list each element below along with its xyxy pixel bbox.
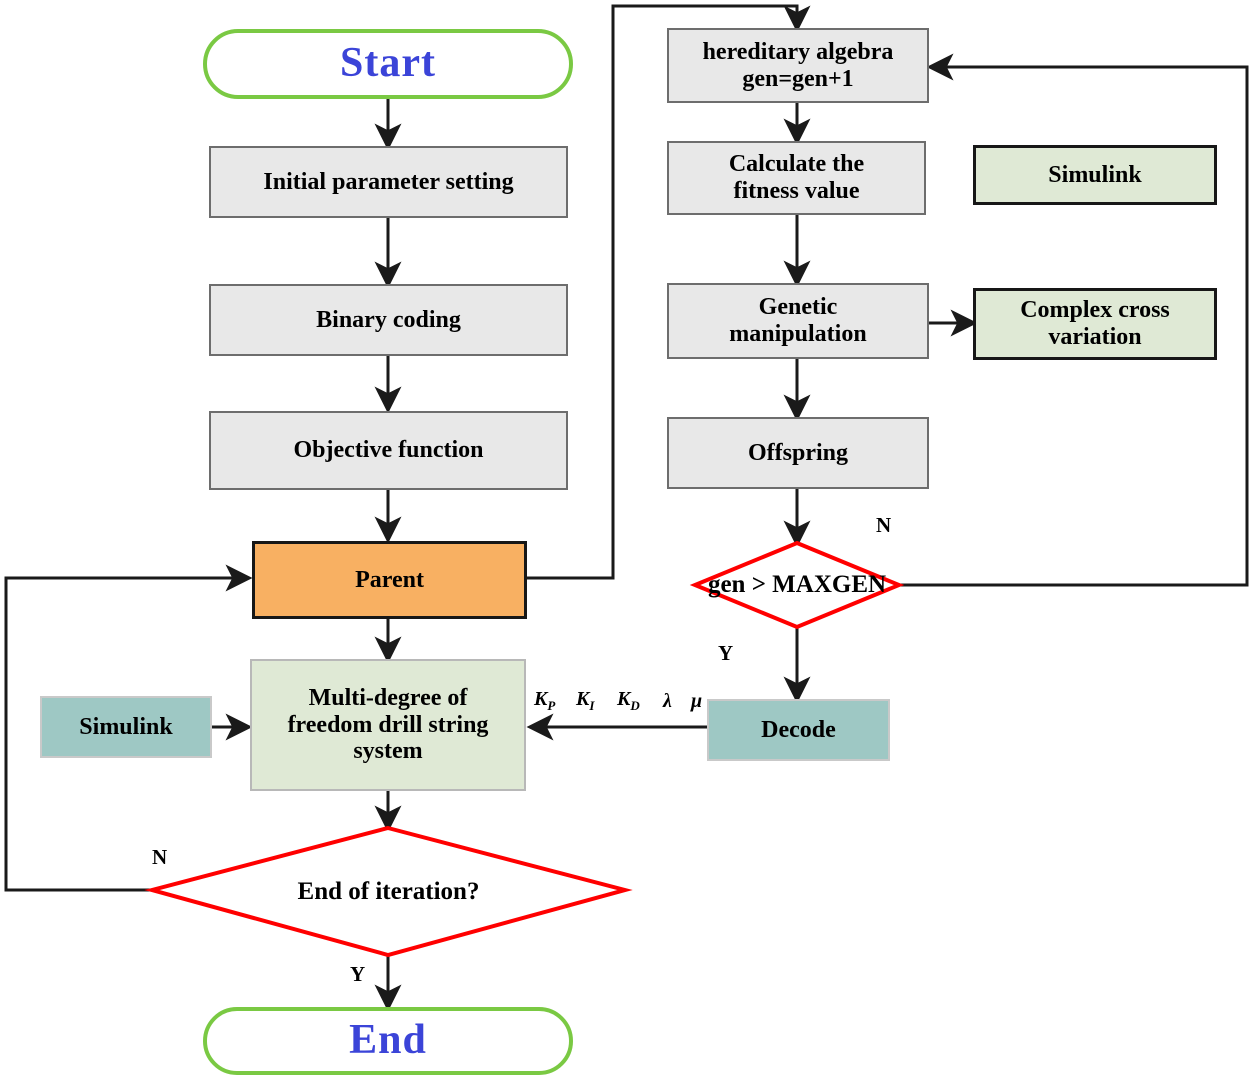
process-decode[interactable]: Decode (707, 699, 890, 761)
param-label-lambda: λ (663, 690, 672, 713)
process-objective-function[interactable]: Objective function (209, 411, 568, 490)
process-offspring-label: Offspring (748, 440, 848, 467)
param-kp-subscript: P (547, 698, 555, 713)
process-initial-parameter-setting-label: Initial parameter setting (263, 169, 513, 196)
param-kd-subscript: D (630, 698, 639, 713)
decision-end-of-iteration-label: End of iteration? (152, 828, 625, 955)
process-hereditary-algebra-line2: gen=gen+1 (742, 66, 853, 93)
process-parent-label: Parent (355, 567, 424, 594)
process-hereditary-algebra-line1: hereditary algebra (703, 39, 894, 66)
process-genetic-manipulation-line1: Genetic (759, 294, 838, 321)
terminal-end[interactable]: End (203, 1007, 573, 1075)
process-calculate-fitness-value-line1: Calculate the (729, 151, 864, 178)
process-simulink-right-label: Simulink (1048, 162, 1141, 189)
edge-label-maxgen-yes: Y (718, 641, 733, 666)
process-genetic-manipulation[interactable]: Genetic manipulation (667, 283, 929, 359)
terminal-end-label: End (349, 1017, 427, 1064)
process-decode-label: Decode (761, 717, 836, 744)
process-genetic-manipulation-line2: manipulation (729, 321, 866, 348)
process-drill-string-system-line2: freedom drill string (288, 712, 489, 739)
process-offspring[interactable]: Offspring (667, 417, 929, 489)
edge-label-iteration-yes: Y (350, 962, 365, 987)
process-drill-string-system[interactable]: Multi-degree of freedom drill string sys… (250, 659, 526, 791)
process-simulink-left-label: Simulink (79, 714, 172, 741)
param-label-ki: KI (576, 688, 594, 714)
param-label-kd: KD (617, 688, 640, 714)
process-calculate-fitness-value-line2: fitness value (734, 178, 860, 205)
param-ki-symbol: K (576, 688, 589, 710)
decision-gen-maxgen[interactable]: gen > MAXGEN (695, 543, 899, 627)
terminal-start[interactable]: Start (203, 29, 573, 99)
process-complex-cross-variation-line1: Complex cross (1020, 297, 1170, 324)
process-simulink-right[interactable]: Simulink (973, 145, 1217, 205)
process-drill-string-system-line3: system (353, 738, 422, 765)
process-complex-cross-variation[interactable]: Complex cross variation (973, 288, 1217, 360)
decision-gen-maxgen-label: gen > MAXGEN (695, 543, 899, 627)
process-drill-string-system-line1: Multi-degree of (309, 685, 468, 712)
process-binary-coding-label: Binary coding (316, 307, 461, 334)
process-initial-parameter-setting[interactable]: Initial parameter setting (209, 146, 568, 218)
process-hereditary-algebra[interactable]: hereditary algebra gen=gen+1 (667, 28, 929, 103)
param-label-mu: μ (691, 690, 702, 713)
param-label-kp: KP (534, 688, 555, 714)
decision-end-of-iteration[interactable]: End of iteration? (152, 828, 625, 955)
process-calculate-fitness-value[interactable]: Calculate the fitness value (667, 141, 926, 215)
process-binary-coding[interactable]: Binary coding (209, 284, 568, 356)
param-kp-symbol: K (534, 688, 547, 710)
process-complex-cross-variation-line2: variation (1048, 324, 1141, 351)
param-kd-symbol: K (617, 688, 630, 710)
process-parent[interactable]: Parent (252, 541, 527, 619)
edge-label-maxgen-no: N (876, 513, 891, 538)
flowchart-canvas: Start Initial parameter setting Binary c… (0, 0, 1255, 1082)
process-objective-function-label: Objective function (294, 437, 484, 464)
edge-label-iteration-no: N (152, 845, 167, 870)
param-ki-subscript: I (589, 698, 594, 713)
process-simulink-left[interactable]: Simulink (40, 696, 212, 758)
terminal-start-label: Start (340, 40, 436, 87)
